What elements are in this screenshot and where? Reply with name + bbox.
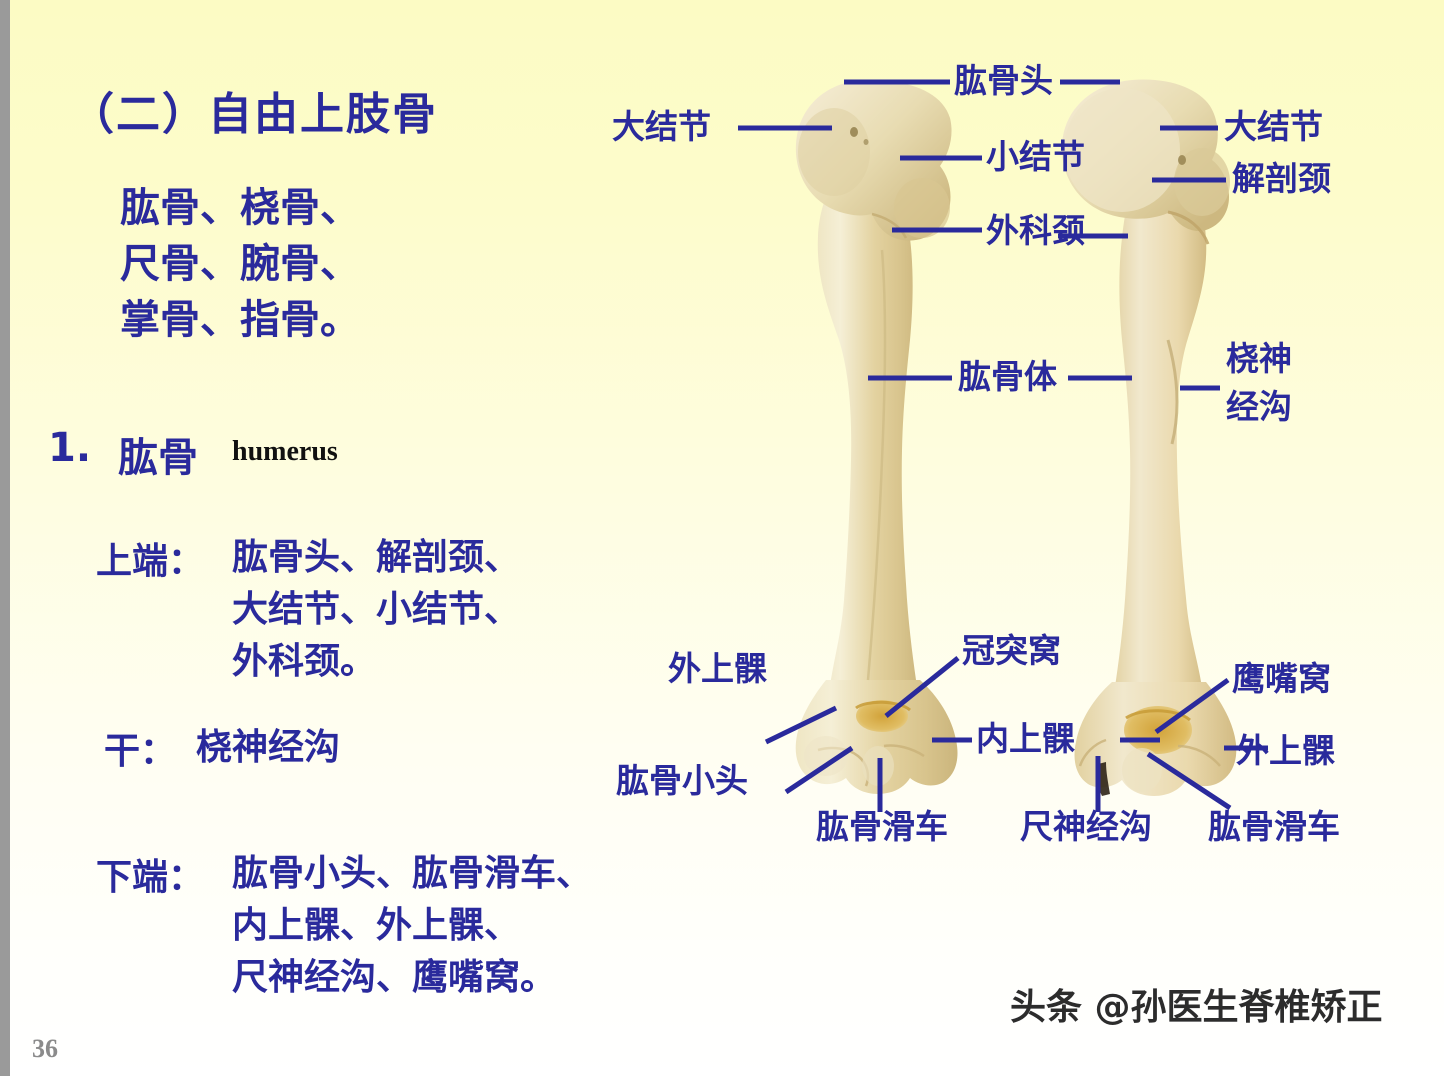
label-anatomical-neck: 解剖颈 xyxy=(1232,160,1331,198)
label-trochlea-right: 肱骨滑车 xyxy=(1208,808,1340,846)
label-humeral-head: 肱骨头 xyxy=(954,62,1053,100)
label-greater-tubercle-right: 大结节 xyxy=(1224,108,1323,146)
left-humerus-anterior xyxy=(796,80,958,794)
page-title: （二）自由上肢骨 xyxy=(70,78,438,142)
label-olecranon-fossa: 鹰嘴窝 xyxy=(1232,660,1331,698)
label-lesser-tubercle: 小结节 xyxy=(986,138,1085,176)
label-surgical-neck: 外科颈 xyxy=(986,212,1085,250)
upper-end-label: 上端： xyxy=(96,532,204,584)
page-number: 36 xyxy=(32,1034,58,1064)
label-medial-epicondyle: 内上髁 xyxy=(976,720,1075,758)
shaft-body: 桡神经沟 xyxy=(196,722,340,774)
lower-end-body: 肱骨小头、肱骨滑车、 内上髁、外上髁、 尺神经沟、鹰嘴窝。 xyxy=(232,848,592,1004)
shaft-label: 干： xyxy=(104,722,176,774)
bone-list-text: 肱骨、桡骨、 尺骨、腕骨、 掌骨、指骨。 xyxy=(120,180,360,348)
label-humeral-body: 肱骨体 xyxy=(958,358,1057,396)
label-lateral-epicondyle-right: 外上髁 xyxy=(1236,732,1335,770)
label-trochlea-left: 肱骨滑车 xyxy=(816,808,948,846)
watermark-text: 头条 @孙医生脊椎矫正 xyxy=(1010,978,1383,1030)
section-title: 肱骨 xyxy=(118,425,198,483)
label-lateral-epicondyle-left: 外上髁 xyxy=(668,650,767,688)
label-greater-tubercle-left: 大结节 xyxy=(612,108,711,146)
slide-canvas: （二）自由上肢骨 肱骨、桡骨、 尺骨、腕骨、 掌骨、指骨。 1. 肱骨 hume… xyxy=(0,0,1444,1076)
upper-end-body: 肱骨头、解剖颈、 大结节、小结节、 外科颈。 xyxy=(232,532,520,688)
right-humerus-posterior xyxy=(1062,80,1236,796)
label-ulnar-groove: 尺神经沟 xyxy=(1020,808,1152,846)
label-radial-groove-line1: 桡神 xyxy=(1226,340,1292,378)
section-latin-name: humerus xyxy=(232,436,338,468)
label-radial-groove-line2: 经沟 xyxy=(1226,388,1292,426)
label-coronoid-fossa: 冠突窝 xyxy=(962,632,1061,670)
lower-end-label: 下端： xyxy=(96,848,204,900)
label-capitulum: 肱骨小头 xyxy=(616,762,748,800)
left-edge-strip xyxy=(0,0,10,1076)
humerus-figure: 大结节 肱骨头 小结节 外科颈 大结节 解剖颈 肱骨体 桡神 经沟 外上髁 冠突… xyxy=(620,40,1444,870)
section-number: 1. xyxy=(48,425,91,471)
